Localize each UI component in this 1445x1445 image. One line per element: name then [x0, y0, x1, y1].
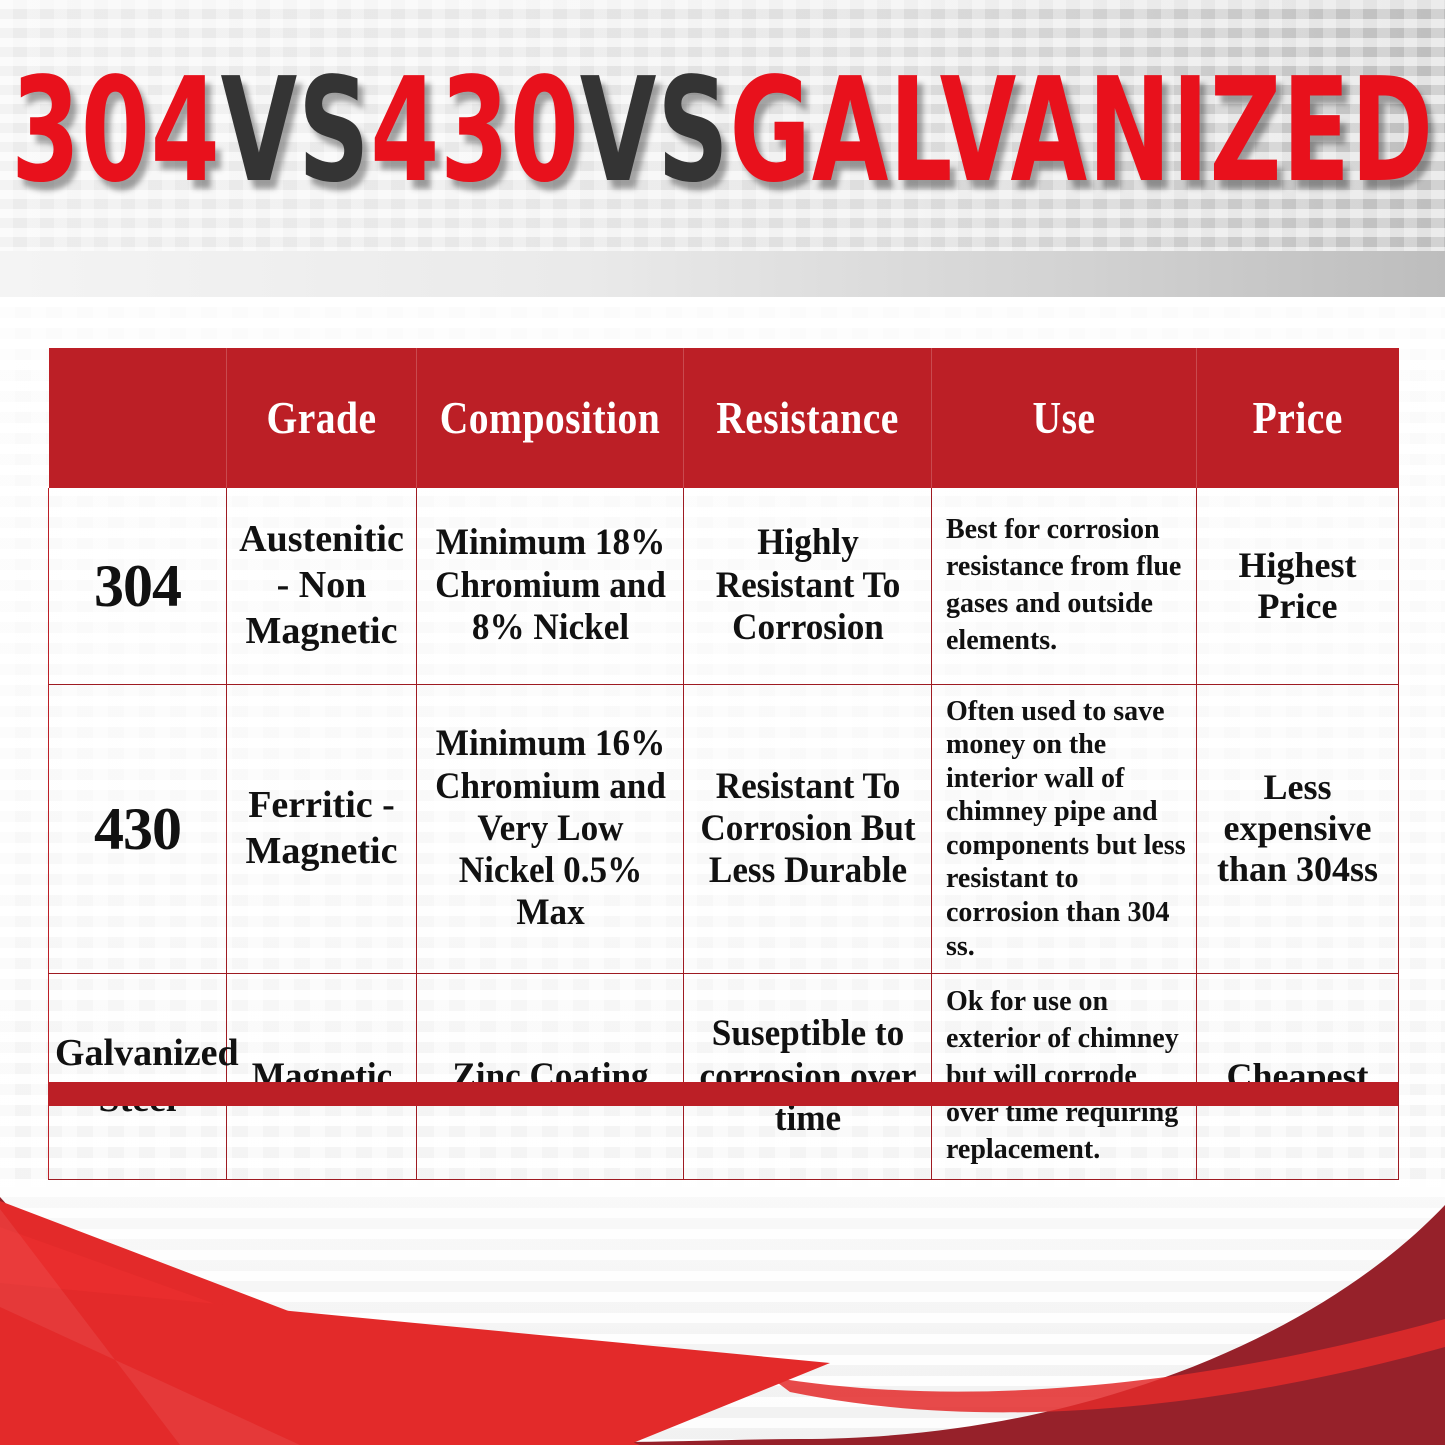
- title-word-304: 304: [11, 58, 220, 202]
- cell-material-304: 304: [49, 488, 227, 684]
- bottom-decoration: [0, 1187, 1445, 1445]
- header-cell-price: Price: [1197, 348, 1399, 488]
- cell-resistance-galvanized: Suseptible to corrosion over time: [690, 974, 926, 1180]
- cell-price-galvanized: Cheapest: [1197, 974, 1399, 1180]
- cell-resistance-304: Highly Resistant To Corrosion: [690, 488, 926, 684]
- header-cell-grade: Grade: [227, 348, 417, 488]
- header-cell-resistance: Resistance: [684, 348, 932, 488]
- cell-material-galvanized: Galvanized Steel: [49, 974, 227, 1180]
- title-word-430: 430: [370, 58, 579, 202]
- table-body: 304 Austenitic - Non Magnetic Minimum 18…: [49, 488, 1399, 1180]
- comparison-table: Grade Composition Resistance Use Price 3…: [48, 348, 1399, 1180]
- bottom-wave-graphic: [0, 1187, 1445, 1445]
- title-word-galvanized: GALVANIZED: [730, 58, 1434, 202]
- cell-use-430: Often used to save money on the interior…: [932, 684, 1197, 974]
- table-header-row: Grade Composition Resistance Use Price: [49, 348, 1399, 488]
- header-label-resistance: Resistance: [699, 392, 916, 444]
- header-cell-composition: Composition: [417, 348, 684, 488]
- cell-grade-galvanized: Magnetic: [231, 974, 412, 1180]
- title-word-vs-1: VS: [221, 58, 371, 202]
- top-banner: 304VS430VSGALVANIZED: [0, 0, 1445, 297]
- table-row: Galvanized Steel Magnetic Zinc Coating S…: [49, 974, 1399, 1180]
- comparison-table-wrapper: Grade Composition Resistance Use Price 3…: [48, 348, 1398, 1180]
- cell-use-304: Best for corrosion resistance from flue …: [932, 488, 1197, 684]
- header-label-grade: Grade: [238, 392, 404, 444]
- cell-use-galvanized: Ok for use on exterior of chimney but wi…: [932, 974, 1197, 1180]
- cell-price-430: Less expensive than 304ss: [1197, 684, 1399, 974]
- cell-grade-304: Austenitic - Non Magnetic: [227, 488, 417, 684]
- title-word-vs-2: VS: [580, 58, 730, 202]
- cell-resistance-430: Resistant To Corrosion But Less Durable: [690, 684, 926, 974]
- cell-composition-galvanized: Zinc Coating: [423, 974, 677, 1180]
- table-header: Grade Composition Resistance Use Price: [49, 348, 1399, 488]
- page-title: 304VS430VSGALVANIZED: [116, 0, 1330, 289]
- table-footer-bar: [48, 1082, 1398, 1106]
- cell-grade-430: Ferritic - Magnetic: [227, 684, 417, 974]
- cell-material-430: 430: [49, 684, 227, 974]
- wave-bright-diagonal-shape: [0, 1283, 830, 1445]
- table-row: 430 Ferritic - Magnetic Minimum 16% Chro…: [49, 684, 1399, 974]
- header-label-use: Use: [948, 392, 1180, 444]
- header-label-price: Price: [1209, 392, 1386, 444]
- header-label-composition: Composition: [433, 392, 667, 444]
- table-row: 304 Austenitic - Non Magnetic Minimum 18…: [49, 488, 1399, 684]
- header-cell-material: [49, 348, 227, 488]
- header-cell-use: Use: [932, 348, 1197, 488]
- cell-price-304: Highest Price: [1197, 488, 1399, 684]
- cell-composition-430: Minimum 16% Chromium and Very Low Nickel…: [423, 684, 677, 974]
- cell-composition-304: Minimum 18% Chromium and 8% Nickel: [423, 488, 677, 684]
